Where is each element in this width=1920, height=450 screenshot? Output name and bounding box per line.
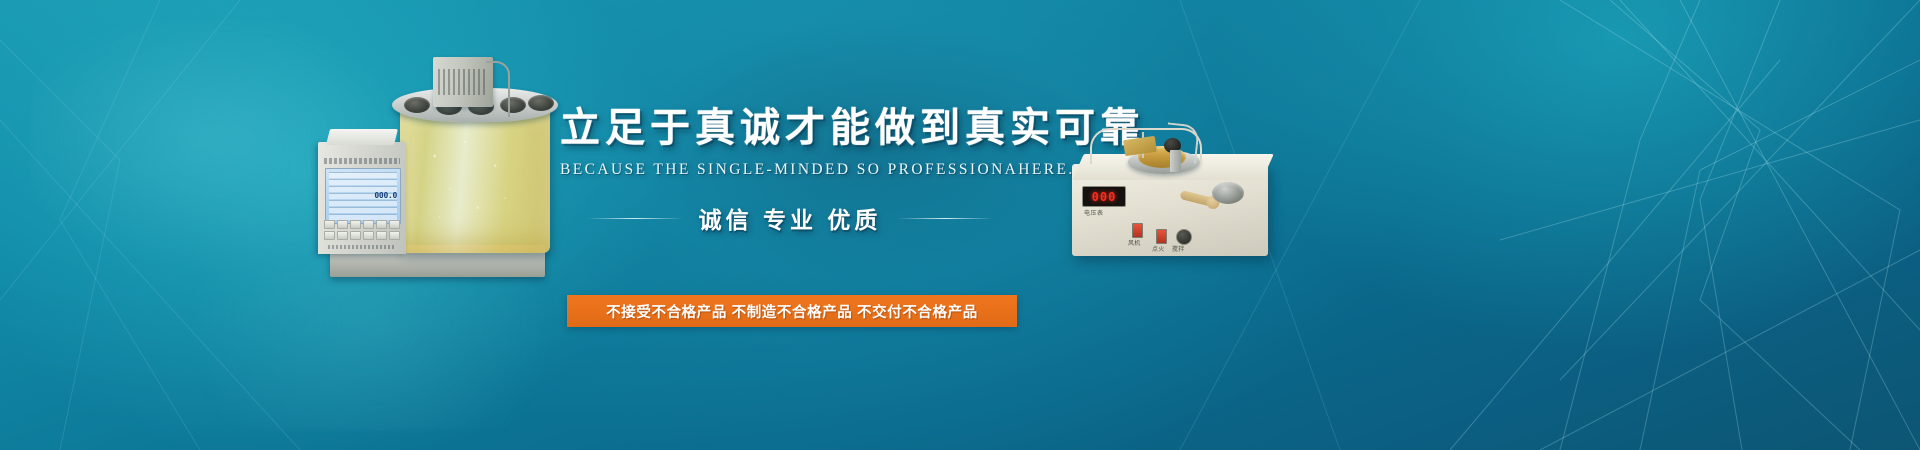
tube-port (528, 95, 554, 111)
temperature-probe-cable (486, 61, 510, 117)
flash-point-tester-image: 000 电压表 风机 点火 搅拌 (1072, 128, 1272, 288)
banner-headline: 立足于真诚才能做到真实可靠 (560, 108, 1020, 148)
banner-keywords: 诚信 专业 优质 (699, 201, 882, 235)
tester-switch-label-fan: 风机 (1128, 238, 1141, 247)
tester-switch-label-stir: 搅拌 (1172, 244, 1185, 253)
tester-led-display: 000 (1082, 186, 1126, 207)
tester-led-label: 电压表 (1084, 208, 1104, 217)
lcd-temperature-readout: 000.0 (374, 191, 397, 200)
tester-stir-knob[interactable] (1176, 229, 1192, 245)
viscometer-oil-bath (400, 103, 550, 253)
quality-slogan-bar: 不接受不合格产品 不制造不合格产品 不交付不合格产品 (567, 295, 1017, 327)
vent-slots (438, 69, 488, 95)
viscometer-lcd-screen: 000.0 (325, 168, 401, 224)
tube-port (404, 97, 430, 113)
viscometer-stirrer-housing (433, 57, 493, 107)
tester-switch-ignite[interactable] (1156, 229, 1167, 244)
tester-sample-well (1212, 182, 1244, 204)
banner-text-block: 立足于真诚才能做到真实可靠 BECAUSE THE SINGLE-MINDED … (560, 108, 1020, 235)
rule-left (587, 218, 683, 219)
quality-slogan-text: 不接受不合格产品 不制造不合格产品 不交付不合格产品 (606, 301, 978, 322)
banner-english-subline: BECAUSE THE SINGLE-MINDED SO PROFESSIONA… (560, 161, 1020, 179)
tester-switch-label-ignite: 点火 (1152, 244, 1165, 253)
panel-title-text (324, 158, 400, 164)
tester-thermometer-sleeve (1170, 150, 1181, 172)
panel-top-bracket (326, 129, 398, 145)
promo-banner: 000.0 立足于真诚才能做到真实可靠 BECAUSE THE SINGLE-M… (0, 0, 1920, 450)
rule-right (897, 218, 993, 219)
tester-led-value: 000 (1092, 190, 1117, 204)
tester-switch-fan[interactable] (1132, 223, 1143, 238)
viscometer-control-panel: 000.0 (318, 142, 406, 254)
banner-keywords-row: 诚信 专业 优质 (560, 201, 1020, 235)
viscometer-keypad (324, 220, 400, 240)
viscometer-instrument-image: 000.0 (300, 55, 550, 290)
panel-brand-text (328, 245, 396, 249)
